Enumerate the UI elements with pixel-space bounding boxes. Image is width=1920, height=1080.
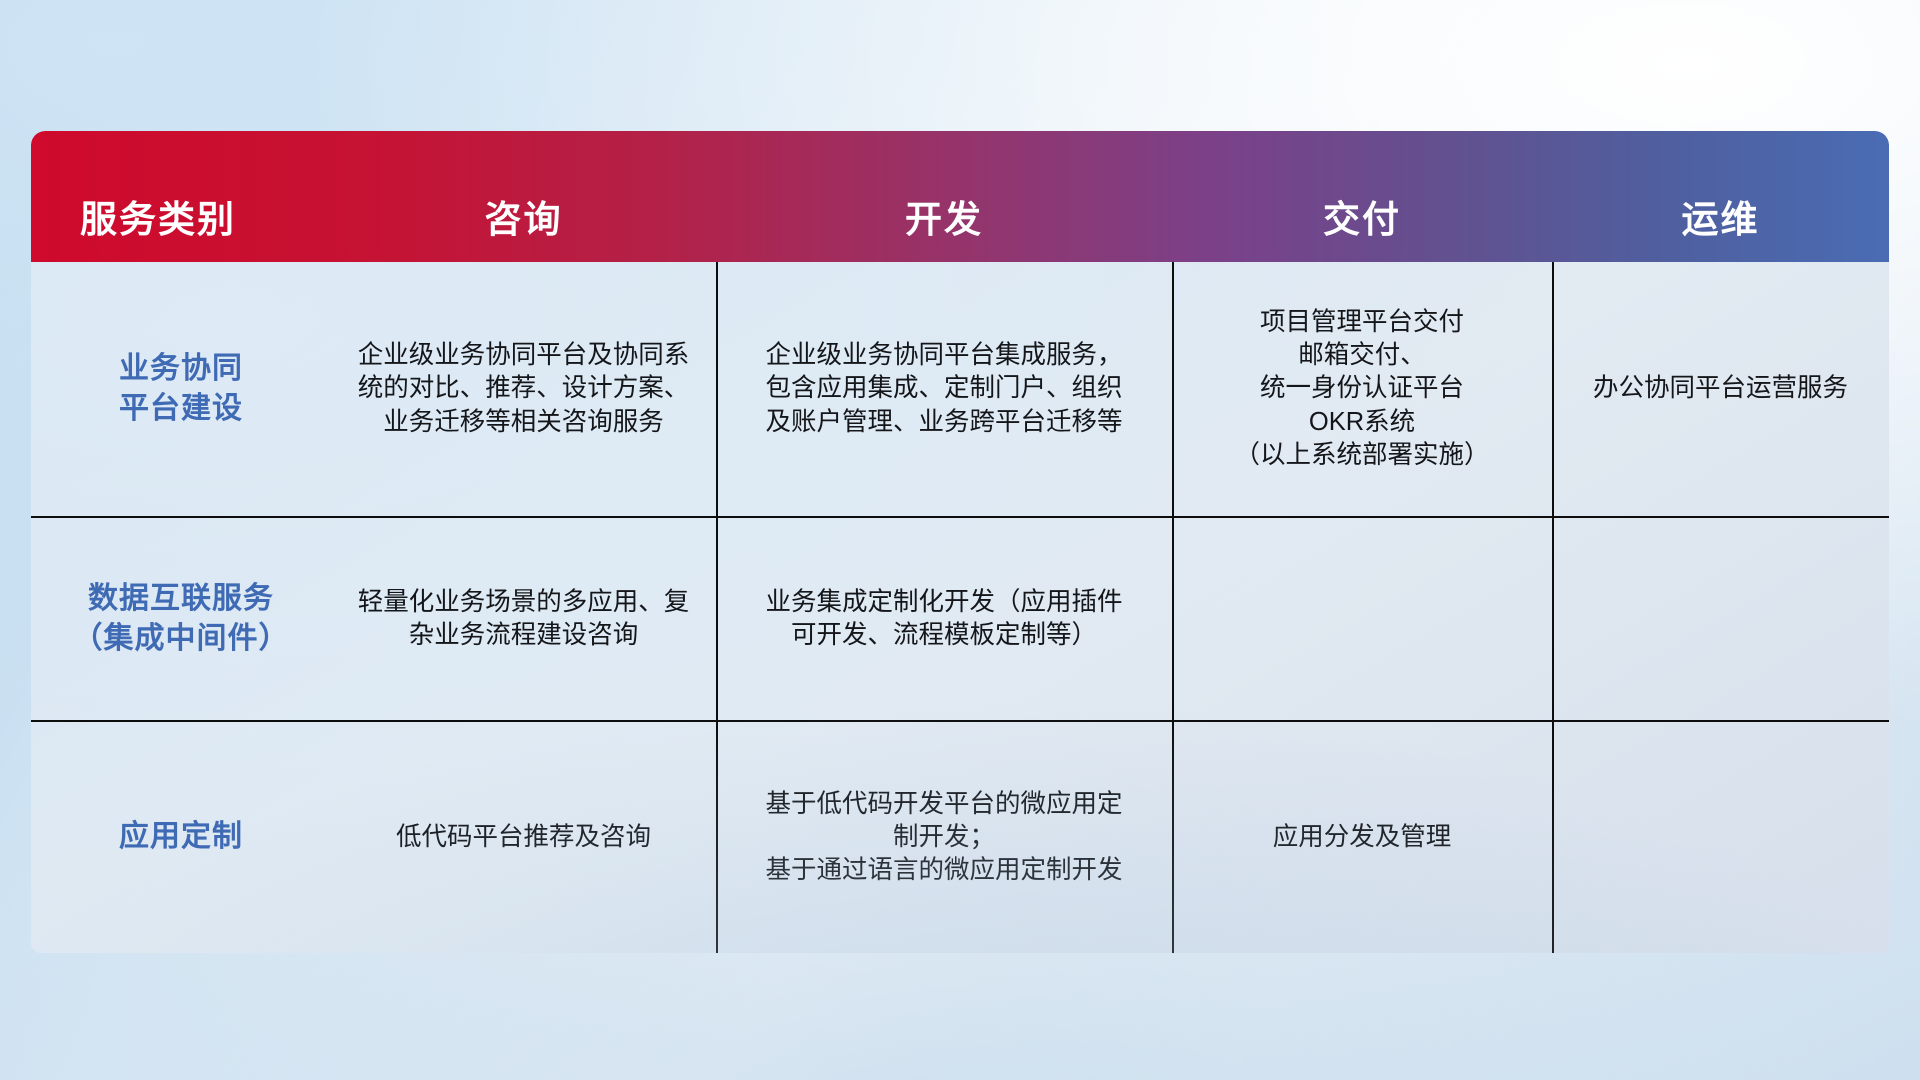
header-cell-development[interactable]: 开发 [716,131,1172,262]
table-row: 数据互联服务 （集成中间件） 轻量化业务场景的多应用、复 杂业务流程建设咨询 业… [31,516,1889,720]
row-label-data-interconnect: 数据互联服务 （集成中间件） [31,518,331,720]
header-cell-operations[interactable]: 运维 [1552,131,1889,262]
header-label-consulting: 咨询 [485,189,563,243]
cell-development-row1: 企业级业务协同平台集成服务， 包含应用集成、定制门户、组织 及账户管理、业务跨平… [716,262,1172,516]
row-label-business-collaboration: 业务协同 平台建设 [31,262,331,516]
cell-delivery-row3: 应用分发及管理 [1172,722,1552,953]
header-label-service-category: 服务类别 [80,189,236,243]
header-cell-delivery[interactable]: 交付 [1172,131,1552,262]
header-label-delivery: 交付 [1323,189,1401,243]
table-row: 应用定制 低代码平台推荐及咨询 基于低代码开发平台的微应用定 制开发； 基于通过… [31,720,1889,953]
cell-delivery-row2 [1172,518,1552,720]
cell-operations-row3 [1552,722,1889,953]
cell-consulting-row1: 企业级业务协同平台及协同系 统的对比、推荐、设计方案、 业务迁移等相关咨询服务 [331,262,716,516]
cell-delivery-row1: 项目管理平台交付 邮箱交付、 统一身份认证平台 OKR系统 （以上系统部署实施） [1172,262,1552,516]
cell-consulting-row3: 低代码平台推荐及咨询 [331,722,716,953]
header-label-development: 开发 [905,189,983,243]
cell-development-row2: 业务集成定制化开发（应用插件 可开发、流程模板定制等） [716,518,1172,720]
table-header-row: 服务类别 咨询 开发 交付 运维 [31,131,1889,262]
header-label-operations: 运维 [1682,189,1760,243]
header-cell-consulting[interactable]: 咨询 [331,131,716,262]
table-row: 业务协同 平台建设 企业级业务协同平台及协同系 统的对比、推荐、设计方案、 业务… [31,262,1889,516]
cell-operations-row1: 办公协同平台运营服务 [1552,262,1889,516]
row-label-app-customization: 应用定制 [31,722,331,953]
cell-development-row3: 基于低代码开发平台的微应用定 制开发； 基于通过语言的微应用定制开发 [716,722,1172,953]
header-cell-service-category[interactable]: 服务类别 [31,131,331,262]
cell-operations-row2 [1552,518,1889,720]
slide-canvas: 服务类别 咨询 开发 交付 运维 业务协同 平台建设 企业级业务协同平台及协同系… [0,0,1920,1080]
service-category-table: 服务类别 咨询 开发 交付 运维 业务协同 平台建设 企业级业务协同平台及协同系… [31,131,1889,951]
table-body: 业务协同 平台建设 企业级业务协同平台及协同系 统的对比、推荐、设计方案、 业务… [31,262,1889,953]
cell-consulting-row2: 轻量化业务场景的多应用、复 杂业务流程建设咨询 [331,518,716,720]
